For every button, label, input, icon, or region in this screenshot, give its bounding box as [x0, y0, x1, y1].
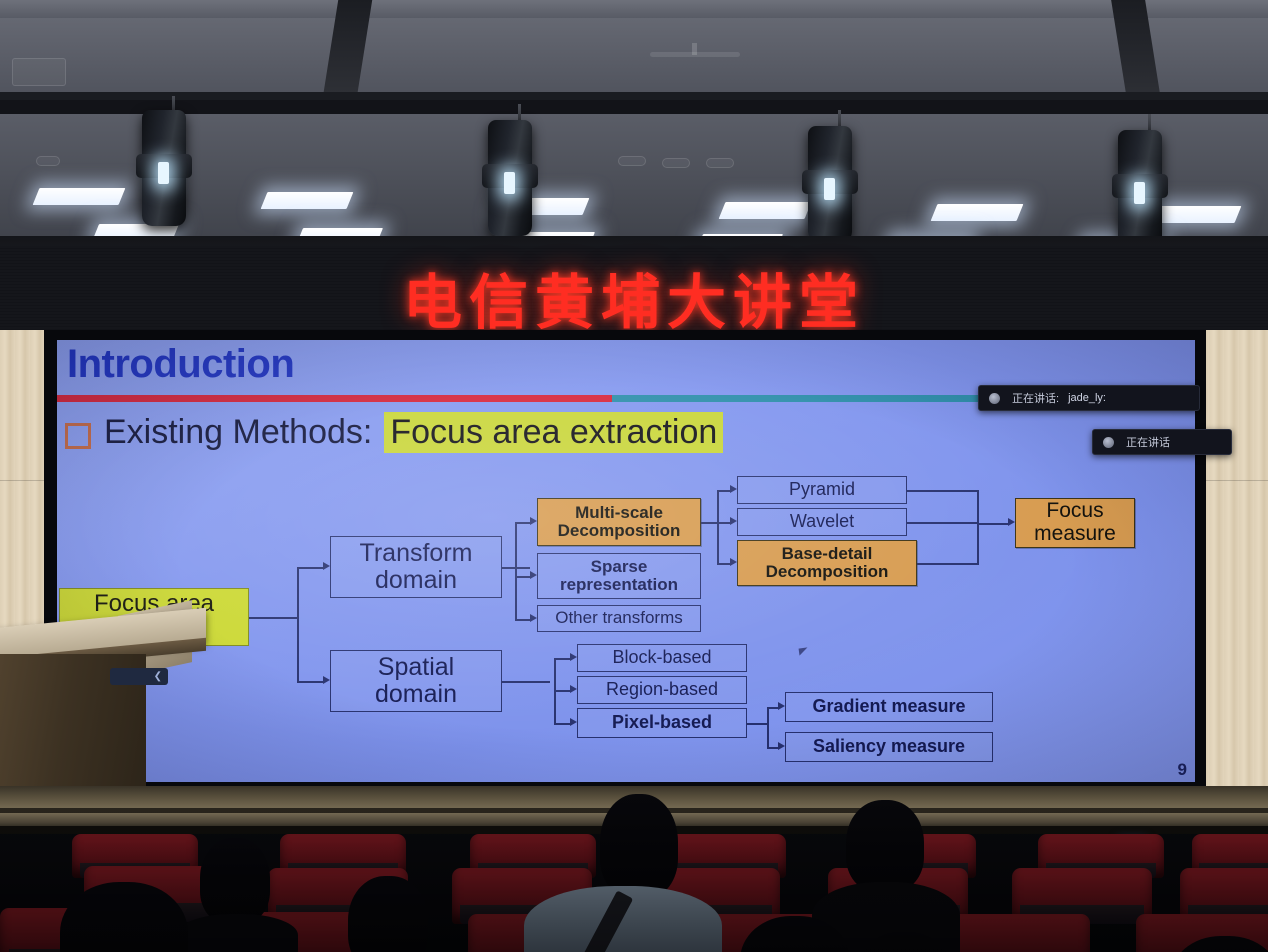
node-pyramid: Pyramid: [737, 476, 907, 504]
node-base-detail-decomposition: Base-detail Decomposition: [737, 540, 917, 586]
lecture-hall-photo: 电信黄埔大讲堂 Introduction Existing Methods: F…: [0, 0, 1268, 952]
stage-spotlight: [142, 110, 186, 226]
ceiling-vent: [662, 158, 690, 168]
node-pixel-based: Pixel-based: [577, 708, 747, 738]
node-focus-measure: Focus measure: [1015, 498, 1135, 548]
speaking-toast[interactable]: 正在讲话: jade_ly:: [978, 385, 1200, 411]
ceiling-vent: [618, 156, 646, 166]
panel-light: [33, 188, 126, 205]
panel-light: [931, 204, 1024, 221]
microphone-icon: [989, 393, 1000, 404]
led-banner-text: 电信黄埔大讲堂: [0, 255, 1268, 340]
chevron-left-icon: ❮: [154, 671, 162, 682]
audience-member: [348, 876, 428, 952]
ceiling-fan: [650, 52, 740, 57]
ceiling-vent: [706, 158, 734, 168]
stage-spotlight: [488, 120, 532, 236]
ceiling-vent: [12, 58, 66, 86]
node-transform-domain: Transform domain: [330, 536, 502, 598]
speaking-user: jade_ly:: [1068, 392, 1106, 404]
speaking-label-secondary: 正在讲话: [1126, 434, 1170, 450]
audience-member: [200, 838, 270, 924]
speaking-label: 正在讲话:: [1012, 390, 1059, 406]
node-wavelet: Wavelet: [737, 508, 907, 536]
node-sparse-representation: Sparse representation: [537, 553, 701, 599]
stage-spotlight: [1118, 130, 1162, 246]
node-other-transforms: Other transforms: [537, 605, 701, 632]
mouse-cursor: [799, 647, 809, 655]
panel-light: [261, 192, 354, 209]
ceiling: [0, 0, 1268, 252]
node-multi-scale-decomposition: Multi-scale Decomposition: [537, 498, 701, 546]
slide-page-number: 9: [1178, 760, 1187, 780]
speaking-toast-secondary[interactable]: 正在讲话: [1092, 429, 1232, 455]
node-gradient-measure: Gradient measure: [785, 692, 993, 722]
ceiling-vent: [36, 156, 60, 166]
node-region-based: Region-based: [577, 676, 747, 704]
node-spatial-domain: Spatial domain: [330, 650, 502, 712]
audience-member: [846, 800, 924, 892]
audience-area: [0, 786, 1268, 952]
stage-spotlight: [808, 126, 852, 242]
audience-member: [600, 794, 678, 898]
node-saliency-measure: Saliency measure: [785, 732, 993, 762]
microphone-icon: [1103, 437, 1114, 448]
panel-light: [719, 202, 812, 219]
node-block-based: Block-based: [577, 644, 747, 672]
podium-control[interactable]: ❮: [110, 668, 168, 685]
panel-light: [1149, 206, 1242, 223]
